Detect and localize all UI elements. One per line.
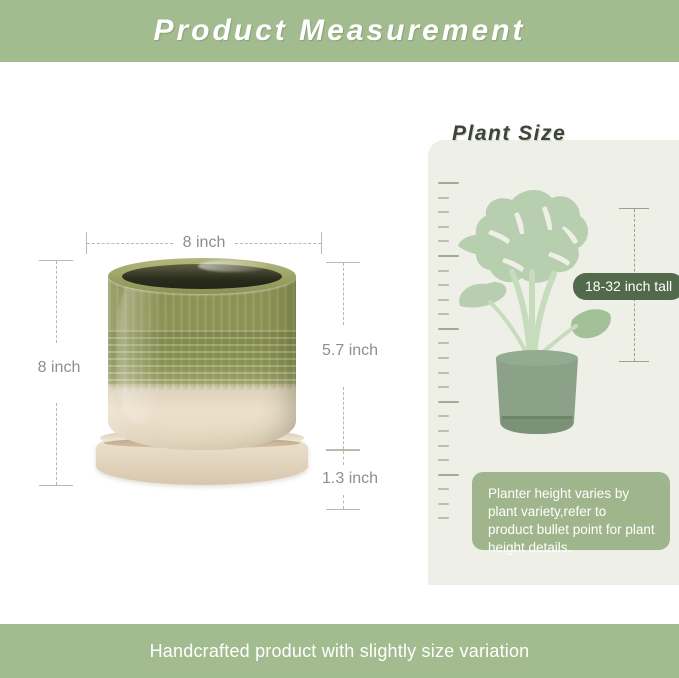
dimension-dash-top xyxy=(343,451,344,465)
planter-highlight xyxy=(118,274,162,424)
dimension-label-saucer-height: 1.3 inch xyxy=(322,470,402,488)
product-photo-area: 8 inch 8 inch 5.7 inch 1.3 inch xyxy=(0,62,410,624)
plant-height-note: Planter height varies by plant variety,r… xyxy=(472,472,670,550)
dimension-label-top-width: 8 inch xyxy=(86,232,322,254)
dimension-top-width: 8 inch xyxy=(86,232,322,258)
footer-banner: Handcrafted product with slightly size v… xyxy=(0,624,679,678)
dimension-label-body-height: 5.7 inch xyxy=(322,342,398,360)
dimension-body-height: 5.7 inch xyxy=(322,262,398,450)
dimension-saucer-height: 1.3 inch xyxy=(322,450,402,510)
dimension-dash-bottom xyxy=(56,403,57,485)
ruler-tick-minor xyxy=(438,503,449,505)
ruler-tick-major xyxy=(438,474,459,476)
ceramic-planter-photo xyxy=(78,252,320,492)
plant-illustration xyxy=(446,160,631,460)
dimension-label-total-height: 8 inch xyxy=(18,359,100,377)
dimension-cap-bottom xyxy=(619,361,649,362)
dimension-dash-top xyxy=(343,263,344,325)
infographic-root: Product Measurement 8 inch xyxy=(0,0,679,678)
plant-height-badge: 18-32 inch tall xyxy=(573,273,679,300)
plant-height-note-text: Planter height varies by plant variety,r… xyxy=(488,485,655,557)
footer-text: Handcrafted product with slightly size v… xyxy=(150,641,530,662)
plant-size-panel: 18-32 inch tall Planter height varies by… xyxy=(428,140,679,585)
ruler-tick-minor xyxy=(438,488,449,490)
header-banner: Product Measurement xyxy=(0,0,679,62)
dimension-dash-bottom xyxy=(343,387,344,449)
planter-rim-shine xyxy=(198,260,268,272)
monstera-plant-icon xyxy=(446,160,631,460)
dimension-dash-top xyxy=(56,261,57,343)
dimension-total-height: 8 inch xyxy=(30,260,88,486)
plant-size-title: Plant Size xyxy=(452,122,566,146)
dimension-dash-bottom xyxy=(343,495,344,509)
page-title: Product Measurement xyxy=(153,14,525,48)
dimension-cap-bottom xyxy=(326,509,360,510)
dimension-cap-bottom xyxy=(39,485,73,486)
ruler-tick-minor xyxy=(438,517,449,519)
